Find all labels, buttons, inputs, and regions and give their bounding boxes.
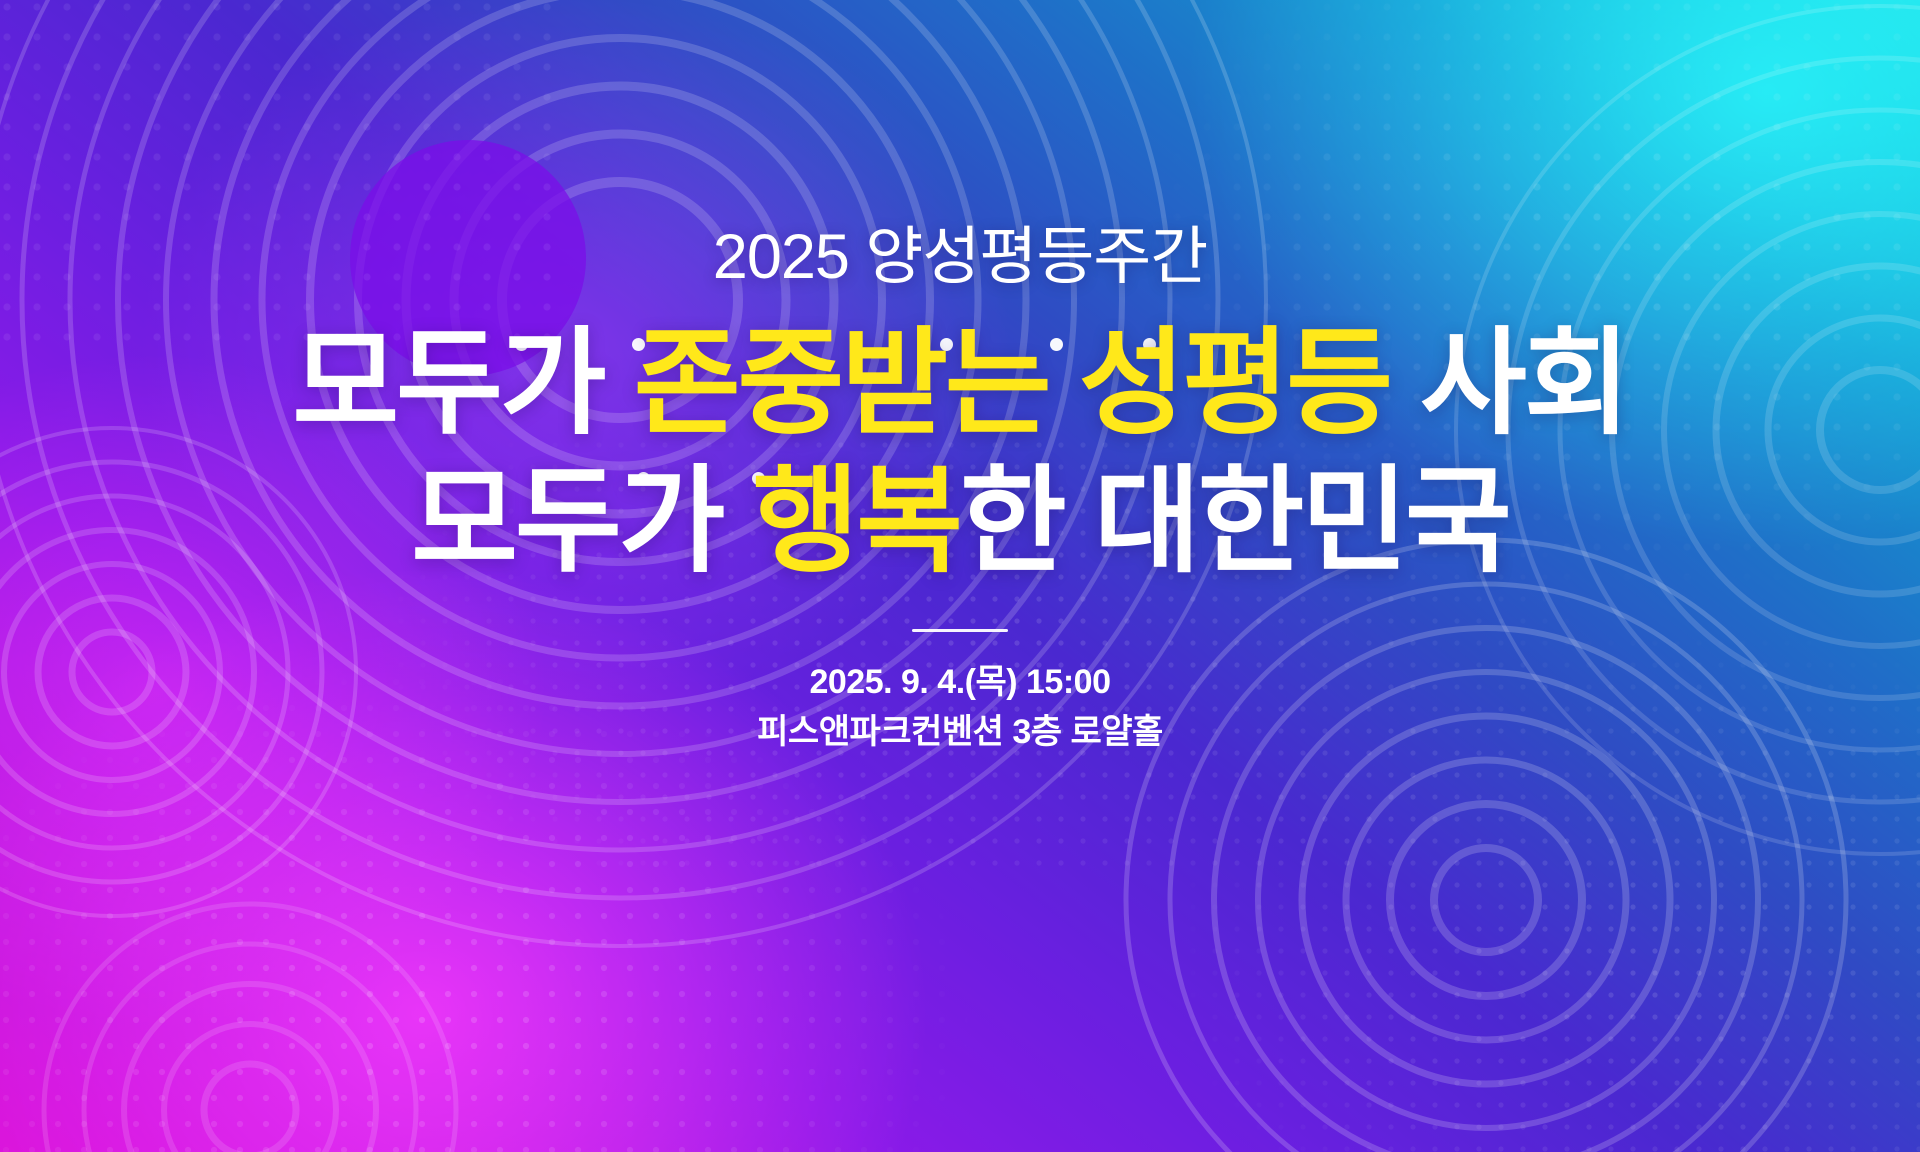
headline-line1-seg-3: 성평등 — [1079, 318, 1390, 448]
headline-line2-seg-4: 대한민국 — [1094, 456, 1509, 586]
headline-line1-seg-2: 존중받는 — [634, 318, 1049, 448]
headline-block: 모두가존중받는성평등사회 모두가행복한대한민국 — [292, 317, 1627, 587]
headline-line-2: 모두가행복한대한민국 — [411, 455, 1509, 587]
poster-canvas: 2025 양성평등주간 모두가존중받는성평등사회 모두가행복한대한민국 2025… — [0, 0, 1920, 1152]
divider-rule — [912, 629, 1008, 632]
headline-line1-seg-1: 모두가 — [292, 318, 603, 448]
event-datetime: 2025. 9. 4.(목) 15:00 — [757, 660, 1163, 706]
headline-line2-seg-3: 한 — [960, 456, 1064, 586]
poster-content: 2025 양성평등주간 모두가존중받는성평등사회 모두가행복한대한민국 2025… — [0, 0, 1920, 1152]
event-venue: 피스앤파크컨벤션 3층 로얄홀 — [757, 710, 1163, 756]
headline-line2-seg-2: 행복 — [753, 456, 960, 586]
headline-line-1: 모두가존중받는성평등사회 — [292, 317, 1627, 449]
event-eyebrow-title: 2025 양성평등주간 — [713, 226, 1207, 289]
headline-line1-seg-4: 사회 — [1420, 318, 1627, 448]
headline-line2-seg-1: 모두가 — [411, 456, 722, 586]
event-info-block: 2025. 9. 4.(목) 15:00 피스앤파크컨벤션 3층 로얄홀 — [757, 660, 1163, 756]
